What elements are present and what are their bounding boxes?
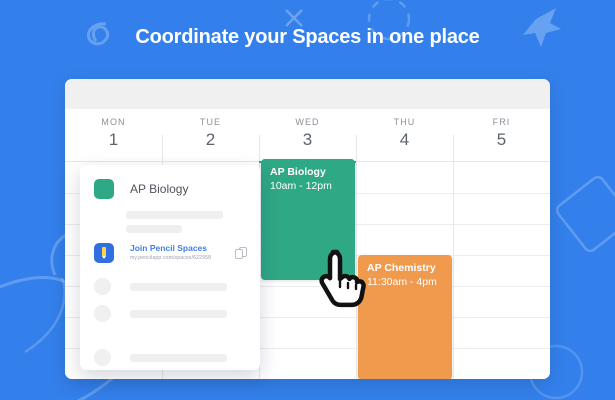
day-column-fri[interactable]: FRI 5 [453, 109, 550, 161]
day-of-week-label: THU [356, 117, 453, 127]
event-title: AP Chemistry [367, 262, 443, 275]
avatar [94, 305, 111, 322]
event-color-swatch [94, 179, 114, 199]
popup-detail-row [94, 349, 246, 366]
event-title: AP Biology [270, 166, 346, 179]
day-number-label: 2 [162, 130, 259, 150]
promo-banner: Coordinate your Spaces in one place MON … [0, 0, 615, 400]
event-time: 11:30am - 4pm [367, 275, 443, 289]
day-number-label: 3 [259, 130, 356, 150]
join-space-text: Join Pencil Spaces my.pencilapp.com/spac… [130, 243, 211, 263]
join-space-row[interactable]: Join Pencil Spaces my.pencilapp.com/spac… [94, 243, 248, 263]
copy-icon[interactable] [235, 247, 248, 260]
day-of-week-label: MON [65, 117, 162, 127]
placeholder-bar [130, 354, 227, 362]
event-time: 10am - 12pm [270, 179, 346, 193]
day-number-label: 5 [453, 130, 550, 150]
avatar [94, 349, 111, 366]
join-space-url: my.pencilapp.com/spaces/622958 [130, 254, 211, 263]
placeholder-bar [130, 310, 227, 318]
placeholder-bar [130, 283, 227, 291]
day-number-label: 4 [356, 130, 453, 150]
avatar [94, 278, 111, 295]
pencil-icon [94, 243, 114, 263]
calendar-toolbar [65, 79, 550, 109]
join-space-link[interactable]: Join Pencil Spaces [130, 243, 211, 254]
popup-detail-row [94, 278, 246, 295]
day-column-tue[interactable]: TUE 2 [162, 109, 259, 161]
day-column-wed[interactable]: WED 3 [259, 109, 356, 161]
day-column-mon[interactable]: MON 1 [65, 109, 162, 161]
calendar-event-ap-chemistry[interactable]: AP Chemistry 11:30am - 4pm [358, 255, 452, 379]
day-number-label: 1 [65, 130, 162, 150]
day-column-thu[interactable]: THU 4 [356, 109, 453, 161]
calendar-event-ap-biology[interactable]: AP Biology 10am - 12pm [261, 159, 355, 280]
popup-detail-row [94, 305, 246, 322]
day-of-week-label: TUE [162, 117, 259, 127]
day-of-week-label: FRI [453, 117, 550, 127]
event-detail-popup[interactable]: AP Biology Join Pencil Spaces my.pencila… [80, 165, 260, 370]
placeholder-bar [126, 225, 182, 233]
placeholder-bar [126, 211, 223, 219]
grid-column-divider [453, 162, 454, 379]
popup-event-title: AP Biology [130, 182, 188, 196]
calendar-day-header: MON 1 TUE 2 WED 3 THU 4 FRI 5 [65, 109, 550, 161]
grid-column-divider [356, 162, 357, 379]
popup-header: AP Biology [80, 165, 260, 199]
page-headline: Coordinate your Spaces in one place [0, 26, 615, 49]
day-of-week-label: WED [259, 117, 356, 127]
